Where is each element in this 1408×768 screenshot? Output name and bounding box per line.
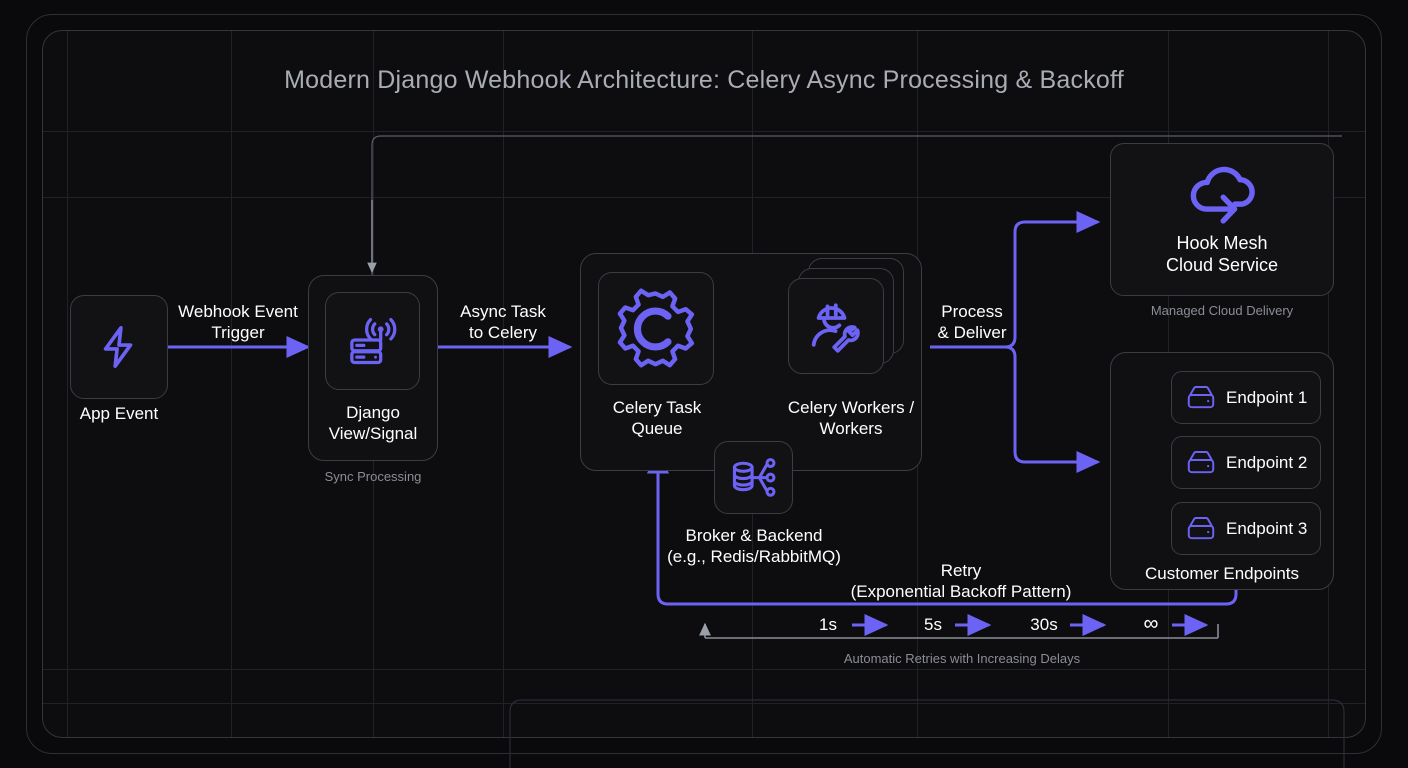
- server-wifi-icon: [348, 315, 398, 367]
- node-app-event-label: App Event: [40, 403, 198, 424]
- flow-label-async-task: Async Task to Celery: [433, 301, 573, 343]
- database-network-icon: [729, 455, 779, 501]
- endpoint-label-2: Endpoint 2: [1226, 453, 1307, 473]
- retry-step-1: 1s: [805, 615, 851, 635]
- retry-step-4: ∞: [1128, 612, 1174, 636]
- celery-gear-icon: [615, 288, 697, 370]
- endpoint-label-1: Endpoint 1: [1226, 388, 1307, 408]
- server-icon: [1186, 384, 1216, 411]
- endpoint-row-1[interactable]: Endpoint 1: [1171, 371, 1321, 424]
- node-django-view-label: Django View/Signal: [303, 402, 443, 444]
- node-hook-mesh[interactable]: Hook Mesh Cloud Service: [1110, 143, 1334, 296]
- retry-step-2: 5s: [910, 615, 956, 635]
- node-django-view[interactable]: [325, 292, 420, 390]
- flow-label-process-deliver: Process & Deliver: [910, 301, 1034, 343]
- lightning-bolt-icon: [96, 321, 142, 373]
- page-title: Modern Django Webhook Architecture: Cele…: [0, 66, 1408, 95]
- node-broker[interactable]: [714, 441, 793, 514]
- cloud-arrow-icon: [1185, 164, 1259, 226]
- node-app-event[interactable]: [70, 295, 168, 399]
- flow-label-webhook-trigger: Webhook Event Trigger: [168, 301, 308, 343]
- diagram-canvas: Modern Django Webhook Architecture: Cele…: [0, 0, 1408, 768]
- node-celery-workers[interactable]: [788, 278, 884, 374]
- server-icon: [1186, 449, 1216, 476]
- node-hook-mesh-sublabel: Managed Cloud Delivery: [1110, 303, 1334, 318]
- endpoint-row-2[interactable]: Endpoint 2: [1171, 436, 1321, 489]
- retry-step-3: 30s: [1018, 615, 1070, 635]
- node-django-view-sublabel: Sync Processing: [293, 469, 453, 484]
- endpoint-label-3: Endpoint 3: [1226, 519, 1307, 539]
- node-celery-workers-label: Celery Workers / Workers: [768, 397, 934, 439]
- node-celery-task-queue-label: Celery Task Queue: [586, 397, 728, 439]
- node-hook-mesh-label: Hook Mesh Cloud Service: [1166, 232, 1278, 276]
- endpoint-row-3[interactable]: Endpoint 3: [1171, 502, 1321, 555]
- server-icon: [1186, 515, 1216, 542]
- worker-helmet-wrench-icon: [807, 297, 865, 355]
- flow-label-retry: Retry (Exponential Backoff Pattern): [770, 560, 1152, 602]
- node-celery-task-queue[interactable]: [598, 272, 714, 385]
- retry-timeline-caption: Automatic Retries with Increasing Delays: [761, 651, 1163, 666]
